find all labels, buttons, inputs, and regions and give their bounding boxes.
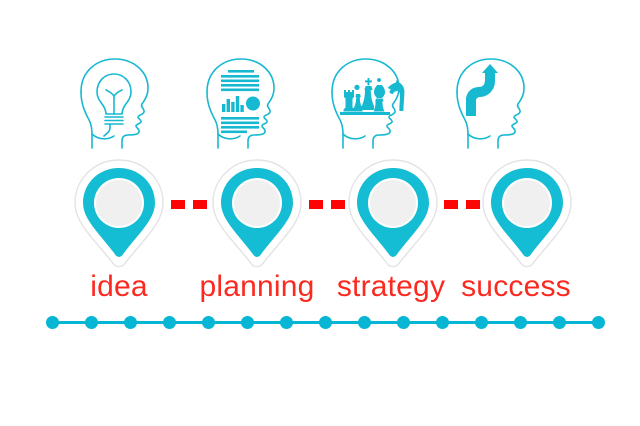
rail-dot	[46, 316, 59, 329]
infographic-canvas: idea planning strategy success	[0, 0, 640, 426]
map-pin-strategy[interactable]	[341, 158, 445, 270]
step-label-success: success	[426, 270, 606, 304]
rail-dot	[124, 316, 137, 329]
rail-dot	[280, 316, 293, 329]
head-arrow-up-icon	[438, 52, 548, 152]
rail-dot	[514, 316, 527, 329]
rail-dot	[202, 316, 215, 329]
rail-dot	[241, 316, 254, 329]
pin-row	[0, 158, 640, 273]
rail-dot	[358, 316, 371, 329]
map-pin-success[interactable]	[475, 158, 579, 270]
rail-dot	[85, 316, 98, 329]
rail-dot	[592, 316, 605, 329]
map-pin-planning[interactable]	[205, 158, 309, 270]
rail-dot	[163, 316, 176, 329]
rail-dot	[319, 316, 332, 329]
step-label-row: idea planning strategy success	[0, 270, 640, 306]
rail-dot	[553, 316, 566, 329]
head-icon-row	[0, 52, 640, 152]
head-lightbulb-icon	[62, 52, 172, 152]
bottom-timeline-rail	[0, 314, 640, 332]
rail-dot	[397, 316, 410, 329]
head-chess-icon	[313, 52, 423, 152]
rail-dot	[475, 316, 488, 329]
rail-dot	[436, 316, 449, 329]
map-pin-idea[interactable]	[67, 158, 171, 270]
head-document-chart-icon	[188, 52, 298, 152]
